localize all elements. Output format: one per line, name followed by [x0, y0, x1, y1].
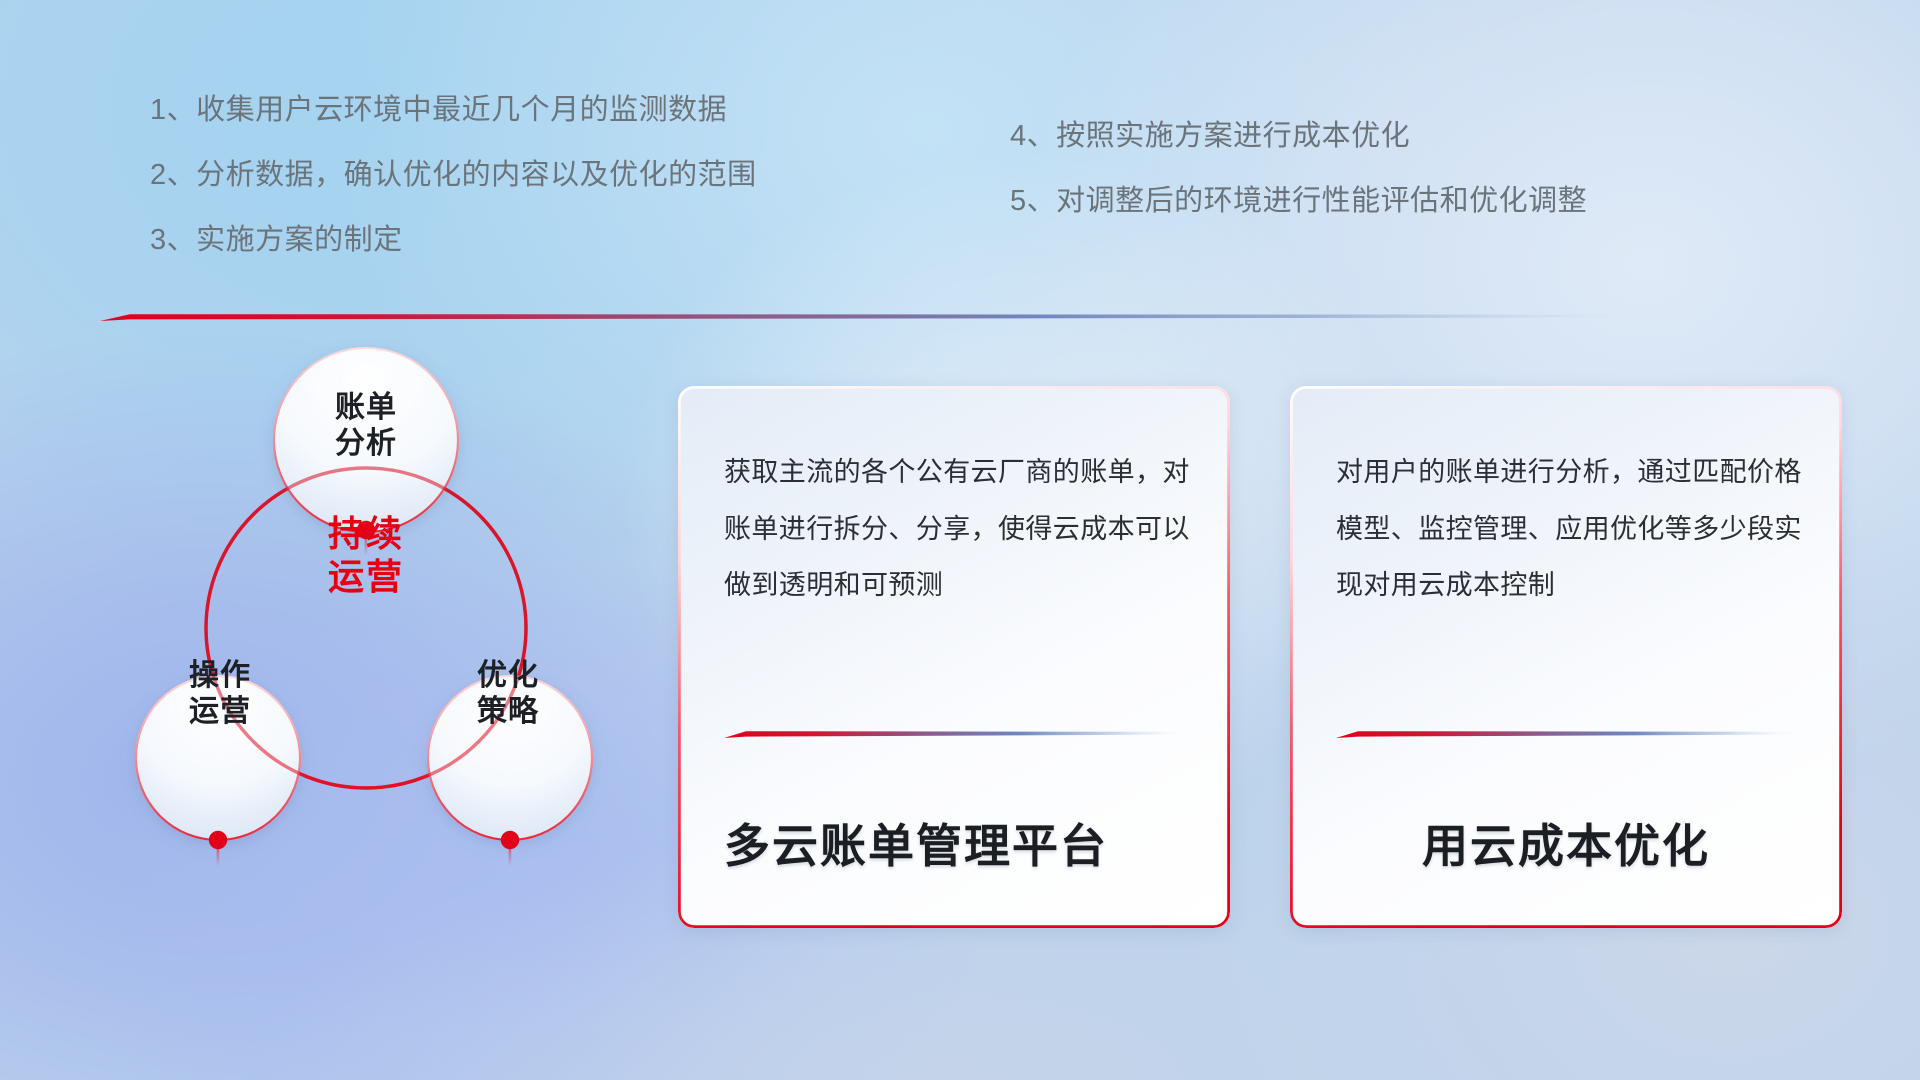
node-dot-left [209, 831, 227, 849]
center-label-line1: 持续 [266, 512, 466, 555]
lobe-label-line1: 操作 [140, 658, 300, 694]
steps-column-left: 1、收集用户云环境中最近几个月的监测数据 2、分析数据，确认优化的内容以及优化的… [150, 96, 757, 291]
lobe-label-line2: 分析 [286, 426, 446, 462]
card-title: 用云成本优化 [1320, 810, 1812, 876]
continuous-operation-diagram: 账单 分析 操作 运营 优化 策略 持续 运营 [88, 340, 648, 980]
lobe-label-line1: 账单 [286, 390, 446, 426]
card-description: 获取主流的各个公有云厂商的账单，对账单进行拆分、分享，使得云成本可以做到透明和可… [724, 444, 1190, 614]
step-item-4: 4、按照实施方案进行成本优化 [1010, 122, 1587, 151]
card-cloud-cost-optimization[interactable]: 对用户的账单进行分析，通过匹配价格模型、监控管理、应用优化等多少段实现对用云成本… [1290, 386, 1842, 928]
step-item-5: 5、对调整后的环境进行性能评估和优化调整 [1010, 187, 1587, 216]
section-divider [100, 310, 1620, 322]
card-title: 多云账单管理平台 [724, 810, 1200, 876]
diagram-center-label: 持续 运营 [266, 512, 466, 598]
lobe-label-line1: 优化 [428, 658, 588, 694]
step-item-1: 1、收集用户云环境中最近几个月的监测数据 [150, 96, 757, 125]
lobe-label-operation-ops: 操作 运营 [140, 658, 300, 730]
node-dot-right [501, 831, 519, 849]
lobe-label-line2: 策略 [428, 694, 588, 730]
lobe-label-line2: 运营 [140, 694, 300, 730]
step-item-2: 2、分析数据，确认优化的内容以及优化的范围 [150, 161, 757, 190]
card-multi-cloud-billing-platform[interactable]: 获取主流的各个公有云厂商的账单，对账单进行拆分、分享，使得云成本可以做到透明和可… [678, 386, 1230, 928]
lobe-label-billing-analysis: 账单 分析 [286, 390, 446, 462]
card-description: 对用户的账单进行分析，通过匹配价格模型、监控管理、应用优化等多少段实现对用云成本… [1336, 444, 1802, 614]
steps-column-right: 4、按照实施方案进行成本优化 5、对调整后的环境进行性能评估和优化调整 [1010, 122, 1587, 252]
lobe-label-optimization-policy: 优化 策略 [428, 658, 588, 730]
card-accent-rule [1336, 728, 1796, 739]
center-label-line2: 运营 [266, 555, 466, 598]
step-item-3: 3、实施方案的制定 [150, 226, 757, 255]
card-accent-rule [724, 728, 1184, 739]
